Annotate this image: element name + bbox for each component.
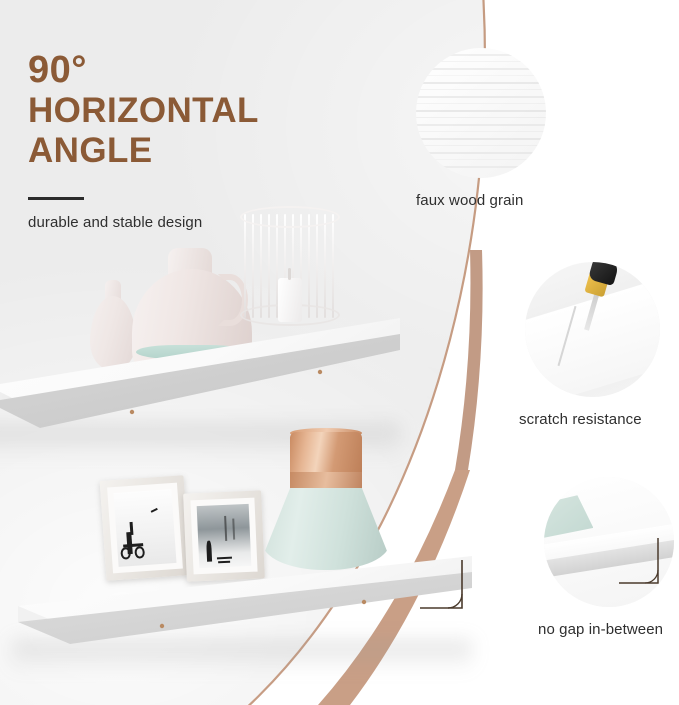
headline-line-2: ANGLE (28, 131, 358, 171)
lantern-candle-wick (288, 268, 291, 280)
headline-line-1: HORIZONTAL (28, 91, 358, 131)
wood-grain-lines (416, 48, 546, 178)
right-angle-marker-icon (418, 556, 474, 620)
callout-no-gap-in-between: no gap in-between (538, 477, 679, 638)
callout-caption-faux-wood-grain: faux wood grain (416, 192, 673, 209)
product-infographic: 90° HORIZONTAL ANGLE durable and stable … (0, 0, 679, 705)
shelf-top (0, 300, 400, 440)
copper-vase-shoulder (290, 472, 362, 490)
headline-block: 90° HORIZONTAL ANGLE durable and stable … (28, 50, 358, 231)
gap-right-angle-marker-icon (616, 535, 668, 593)
callout-faux-wood-grain: faux wood grain (408, 48, 673, 209)
headline-divider-rule (28, 197, 84, 200)
scratch-test-icon (525, 262, 660, 397)
wood-grain-icon (416, 48, 546, 178)
callout-caption-scratch-resistance: scratch resistance (519, 411, 679, 428)
callout-caption-no-gap-in-between: no gap in-between (538, 621, 679, 638)
shelf-bottom (12, 548, 472, 658)
headline-subtitle: durable and stable design (28, 214, 358, 231)
callout-scratch-resistance: scratch resistance (519, 262, 679, 428)
no-gap-joint-icon (544, 477, 674, 607)
headline-degree: 90° (28, 50, 358, 91)
